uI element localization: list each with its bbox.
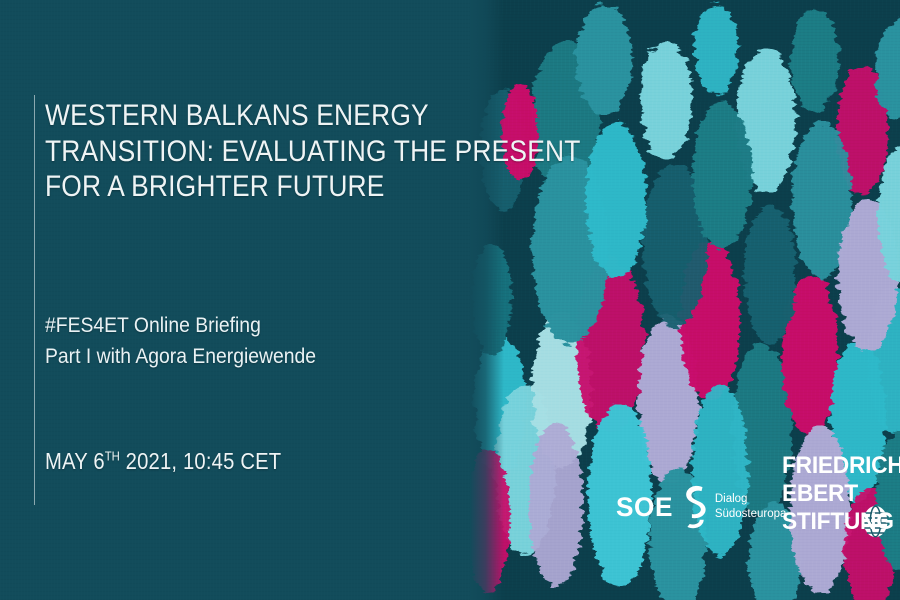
text-column: WESTERN BALKANS ENERGY TRANSITION: EVALU… [45, 98, 470, 205]
title-line-2: TRANSITION: EVALUATING THE PRESENT [45, 134, 419, 170]
page-title: WESTERN BALKANS ENERGY TRANSITION: EVALU… [45, 98, 419, 205]
vertical-divider-rule [34, 95, 35, 505]
soe-subtitle: Dialog Südosteuropa [715, 492, 787, 522]
pattern-blob [744, 205, 796, 345]
title-line-1: WESTERN BALKANS ENERGY [45, 98, 419, 134]
datetime-suffix: 2021, 10:45 CET [120, 448, 281, 474]
subtitle-line-1: #FES4ET Online Briefing [45, 310, 316, 341]
soe-subtitle-line-1: Dialog [715, 492, 787, 507]
soe-subtitle-line-2: Südosteuropa [715, 507, 787, 522]
soe-logo: SOE Dialog Südosteuropa [616, 483, 786, 531]
swirl-icon [682, 484, 708, 530]
subtitle-line-2: Part I with Agora Energiewende [45, 341, 316, 372]
pattern-blob [640, 40, 692, 160]
event-datetime: MAY 6TH 2021, 10:45 CET [45, 450, 281, 473]
event-poster: WESTERN BALKANS ENERGY TRANSITION: EVALU… [0, 0, 900, 600]
pattern-blob [472, 245, 512, 355]
pattern-blob [694, 4, 738, 96]
fes-row-ebert: EBERT [782, 480, 886, 508]
fes-logo: FRIEDRICH EBERT STIFTUNG [782, 452, 886, 552]
pattern-blob [586, 122, 646, 278]
pattern-blob [576, 4, 632, 116]
pattern-blob [791, 8, 839, 112]
fes-line-1: FRIEDRICH [782, 452, 879, 480]
pattern-blob [692, 101, 752, 249]
datetime-prefix: MAY 6 [45, 448, 105, 474]
title-line-3: FOR A BRIGHTER FUTURE [45, 169, 419, 205]
soe-wordmark: SOE [616, 494, 673, 521]
fes-line-2: EBERT [782, 480, 879, 508]
datetime-ordinal: TH [105, 448, 120, 463]
fes-line-3: STIFTUNG [782, 508, 879, 536]
subtitle: #FES4ET Online Briefing Part I with Agor… [45, 310, 316, 372]
pattern-blob [529, 423, 583, 587]
